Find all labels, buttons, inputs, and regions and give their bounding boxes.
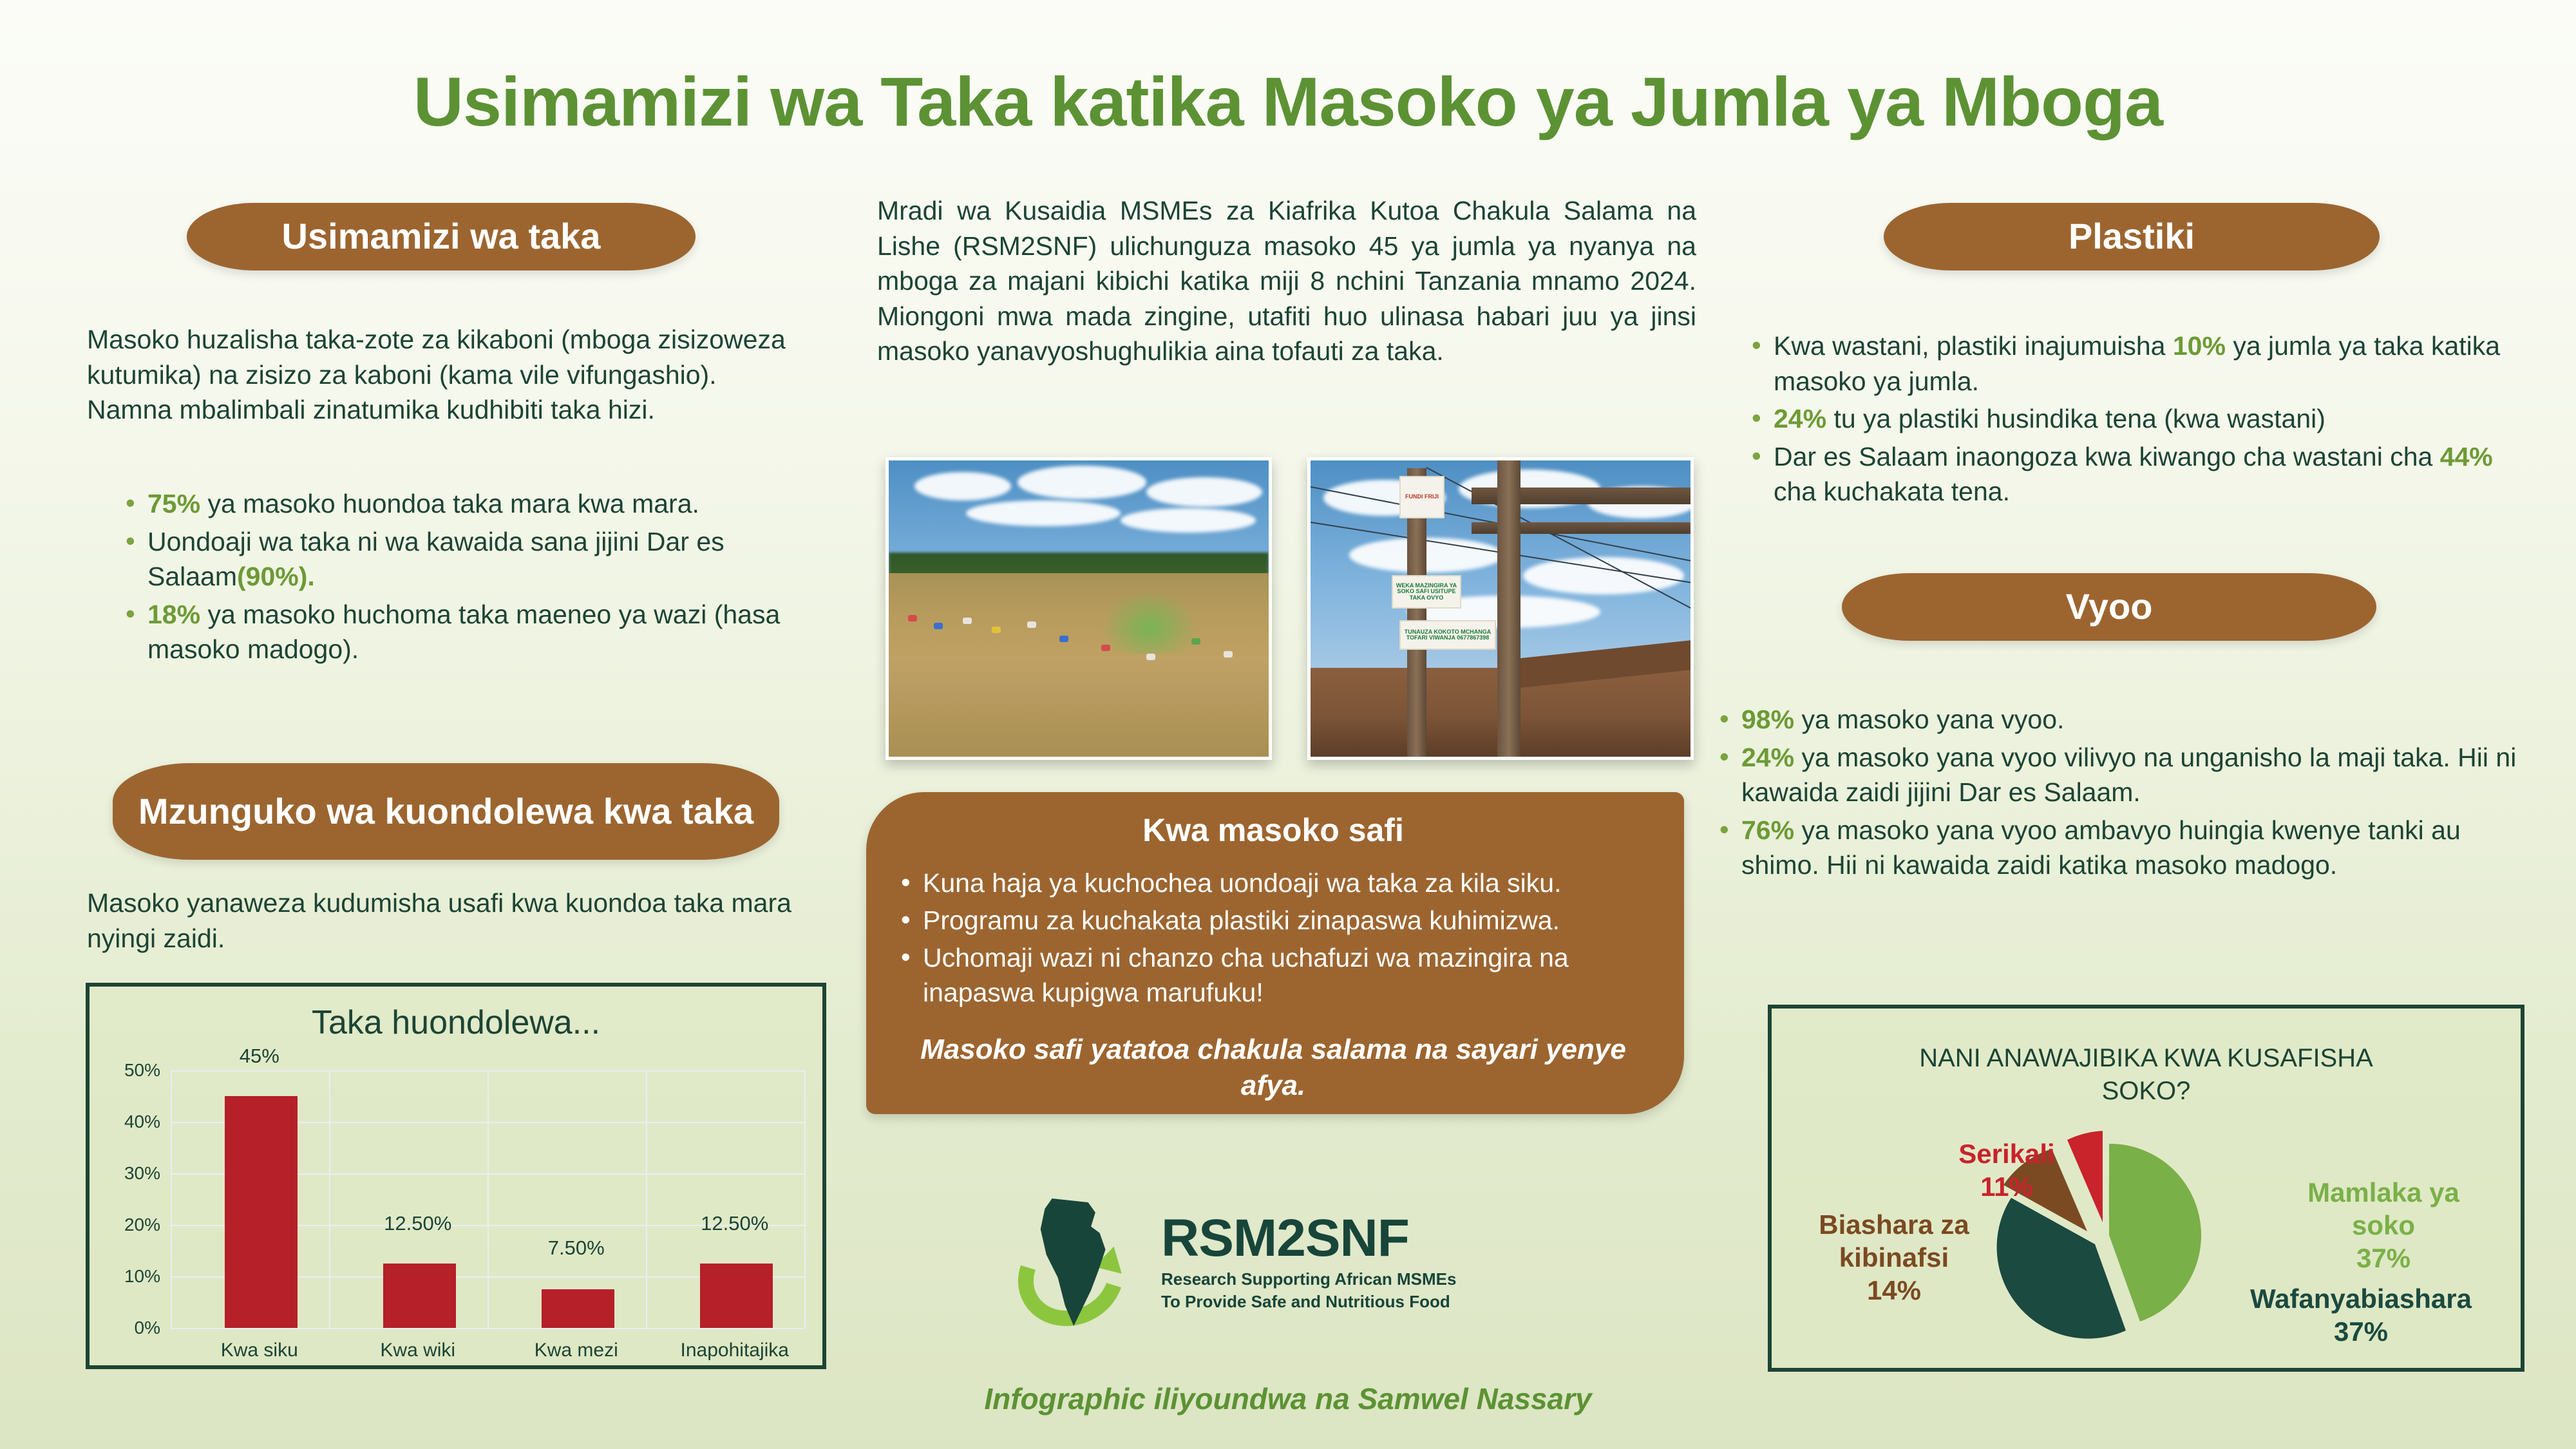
stat-18: 18% xyxy=(147,600,200,629)
pie-label-text: Biashara za kibinafsi xyxy=(1801,1208,1987,1274)
y-tick-label: 20% xyxy=(124,1215,160,1235)
market-signpost-photo: FUNDI FRIJI WEKA MAZINGIRA YA SOKO SAFI … xyxy=(1307,457,1694,760)
stat-44: 44% xyxy=(2440,442,2493,471)
bar-chart-box: Taka huondolewa... 50% 40% 30% 20% 10% 0… xyxy=(86,983,826,1369)
bar-category-label: Kwa wiki xyxy=(380,1340,455,1361)
rsm2snf-logo: RSM2SNF Research Supporting African MSME… xyxy=(1014,1195,1456,1330)
pie-label-serikali: Serikali 11% xyxy=(1933,1137,2081,1203)
pie-slice-mamlaka xyxy=(2109,1144,2201,1321)
pie-chart-title: NANI ANAWAJIBIKA KWA KUSAFISHA SOKO? xyxy=(1772,1042,2521,1108)
list-item: 24% tu ya plastiki husindika tena (kwa w… xyxy=(1745,401,2528,437)
pie-label-value: 37% xyxy=(2356,1243,2410,1273)
pie-label-text: Wafanyabiashara xyxy=(2250,1283,2472,1314)
recommendations-list: Kuna haja ya kuchochea uondoaji wa taka … xyxy=(893,866,1653,1010)
gridline xyxy=(329,1070,330,1328)
section-heading-label: Mzunguko wa kuondolewa kwa taka xyxy=(138,791,753,832)
sign-fundi-friji: FUNDI FRIJI xyxy=(1399,476,1444,518)
recommendations-heading: Kwa masoko safi xyxy=(893,811,1653,849)
pie-label-wafanyabiashara: Wafanyabiashara 37% xyxy=(2216,1282,2506,1348)
list-item: 76% ya masoko yana vyoo ambavyo huingia … xyxy=(1713,813,2531,883)
bar-category-label: Kwa mezi xyxy=(535,1340,618,1361)
waste-pile-foreground xyxy=(889,656,1269,757)
pie-label-value: 37% xyxy=(2334,1316,2388,1347)
credit-line: Infographic iliyoundwa na Samwel Nassary xyxy=(0,1381,2576,1416)
list-item-text: Uondoaji wa taka ni wa kawaida sana jiji… xyxy=(147,527,724,592)
left-intro-paragraph: Masoko huzalisha taka-zote za kikaboni (… xyxy=(87,322,789,428)
list-item-text: ya masoko huchoma taka maeneo ya wazi (h… xyxy=(147,600,780,665)
list-item-text: Dar es Salaam inaongoza kwa kiwango cha … xyxy=(1774,442,2440,471)
section-heading-vyoo: Vyoo xyxy=(1842,573,2376,641)
gridline xyxy=(171,1328,804,1329)
bar xyxy=(383,1264,456,1328)
list-item: 75% ya masoko huondoa taka mara kwa mara… xyxy=(119,486,789,522)
bar xyxy=(225,1096,298,1328)
list-item-text: ya masoko huondoa taka mara kwa mara. xyxy=(200,489,699,518)
page-title: Usimamizi wa Taka katika Masoko ya Jumla… xyxy=(0,61,2576,142)
sign-tunauza: TUNAUZA KOKOTO MCHANGA TOFARI VIWANJA 06… xyxy=(1399,620,1496,650)
y-tick-label: 30% xyxy=(124,1163,160,1184)
list-item: 98% ya masoko yana vyoo. xyxy=(1713,702,2531,737)
gridline xyxy=(804,1070,806,1328)
recommendations-tagline: Masoko safi yatatoa chakula salama na sa… xyxy=(893,1032,1653,1103)
stat-10: 10% xyxy=(2173,331,2226,361)
section-heading-plastiki: Plastiki xyxy=(1884,203,2380,270)
section-heading-label: Vyoo xyxy=(2066,587,2153,627)
section-heading-usimamizi-wa-taka: Usimamizi wa taka xyxy=(187,203,696,270)
litter-speck xyxy=(963,618,972,624)
stat-75: 75% xyxy=(147,489,200,518)
gridline xyxy=(488,1070,489,1328)
cloud-shape xyxy=(914,472,1011,500)
cloud-shape xyxy=(1349,538,1504,573)
section-heading-label: Usimamizi wa taka xyxy=(282,216,601,257)
y-tick-label: 50% xyxy=(124,1060,160,1081)
y-tick-label: 10% xyxy=(124,1266,160,1287)
stat-24-vyoo: 24% xyxy=(1741,743,1794,772)
list-item: 18% ya masoko huchoma taka maeneo ya waz… xyxy=(119,597,789,667)
litter-speck xyxy=(934,623,943,629)
list-item: Uondoaji wa taka ni wa kawaida sana jiji… xyxy=(119,524,789,594)
litter-speck xyxy=(1059,636,1068,642)
list-item: 24% ya masoko yana vyoo vilivyo na ungan… xyxy=(1713,740,2531,810)
vyoo-bullet-list: 98% ya masoko yana vyoo. 24% ya masoko y… xyxy=(1713,702,2531,885)
stat-76: 76% xyxy=(1741,815,1794,845)
bar-chart-title: Taka huondolewa... xyxy=(90,1003,822,1042)
infographic-poster: Usimamizi wa Taka katika Masoko ya Jumla… xyxy=(0,0,2576,1449)
pie-label-text: Mamlaka ya soko xyxy=(2297,1176,2470,1242)
stat-24: 24% xyxy=(1774,404,1826,433)
sign-weka-mazingira: WEKA MAZINGIRA YA SOKO SAFI USITUPE TAKA… xyxy=(1392,575,1461,609)
logo-wordmark: RSM2SNF Research Supporting African MSME… xyxy=(1161,1212,1456,1313)
section-heading-label: Plastiki xyxy=(2069,216,2195,257)
plastiki-bullet-list: Kwa wastani, plastiki inajumuisha 10% ya… xyxy=(1745,328,2528,512)
list-item-text: ya masoko yana vyoo vilivyo na unganisho… xyxy=(1741,743,2516,808)
list-item: Dar es Salaam inaongoza kwa kiwango cha … xyxy=(1745,439,2528,509)
left-paragraph-2: Masoko yanaweza kudumisha usafi kwa kuon… xyxy=(87,885,799,956)
pie-label-text: Serikali xyxy=(1958,1139,2054,1169)
litter-speck xyxy=(1027,621,1036,628)
list-item: Kuna haja ya kuchochea uondoaji wa taka … xyxy=(893,866,1653,900)
recommendations-box: Kwa masoko safi Kuna haja ya kuchochea u… xyxy=(866,792,1684,1114)
bar-chart-plot: 50% 40% 30% 20% 10% 0% xyxy=(109,1070,811,1328)
gridline xyxy=(171,1070,172,1328)
dump-site-photo xyxy=(885,457,1272,760)
list-item-text: tu ya plastiki husindika tena (kwa wasta… xyxy=(1826,404,2325,433)
logo-title: RSM2SNF xyxy=(1161,1212,1456,1265)
bar-category-label: Kwa siku xyxy=(221,1340,298,1361)
left-bullet-list: 75% ya masoko huondoa taka mara kwa mara… xyxy=(119,486,789,670)
bar-category-label: Inapohitajika xyxy=(681,1340,789,1361)
pie-label-mamlaka: Mamlaka ya soko 37% xyxy=(2287,1176,2480,1275)
bar-value-label: 12.50% xyxy=(384,1212,451,1235)
bar-value-label: 12.50% xyxy=(701,1212,768,1235)
litter-speck xyxy=(992,627,1001,633)
bar-value-label: 7.50% xyxy=(548,1236,605,1260)
pie-label-value: 14% xyxy=(1867,1275,1921,1305)
litter-speck xyxy=(1146,654,1155,660)
cloud-shape xyxy=(966,500,1121,526)
bar xyxy=(700,1264,773,1328)
cloud-shape xyxy=(1018,466,1146,499)
logo-tagline-2: To Provide Safe and Nutritious Food xyxy=(1161,1291,1456,1312)
list-item: Uchomaji wazi ni chanzo cha uchafuzi wa … xyxy=(893,940,1653,1010)
list-item: Programu za kuchakata plastiki zinapaswa… xyxy=(893,903,1653,938)
green-shrub xyxy=(1101,589,1198,654)
logo-tagline-1: Research Supporting African MSMEs xyxy=(1161,1269,1456,1290)
section-heading-mzunguko: Mzunguko wa kuondolewa kwa taka xyxy=(113,763,779,860)
utility-pole xyxy=(1497,460,1520,760)
y-tick-label: 0% xyxy=(135,1318,160,1338)
africa-swoosh-icon xyxy=(1014,1195,1150,1330)
gridline xyxy=(646,1070,647,1328)
bar-chart-plot-area: 45% 12.50% 7.50% 12.50% Kwa siku Kwa wik… xyxy=(171,1070,804,1328)
list-item-text: Kwa wastani, plastiki inajumuisha xyxy=(1774,331,2173,361)
bar-chart-y-axis: 50% 40% 30% 20% 10% 0% xyxy=(109,1070,164,1328)
list-item-text: cha kuchakata tena. xyxy=(1774,477,2010,506)
bar xyxy=(542,1289,614,1328)
list-item: Kwa wastani, plastiki inajumuisha 10% ya… xyxy=(1745,328,2528,399)
cloud-shape xyxy=(1146,477,1262,507)
pie-chart-box: NANI ANAWAJIBIKA KWA KUSAFISHA SOKO? Ser… xyxy=(1768,1005,2524,1372)
pie-label-value: 11% xyxy=(1980,1171,2033,1202)
pie-slice-wafanyabiashara xyxy=(1997,1198,2126,1339)
litter-speck xyxy=(1224,651,1233,658)
list-item-text: ya masoko yana vyoo. xyxy=(1794,705,2064,734)
center-intro-paragraph: Mradi wa Kusaidia MSMEs za Kiafrika Kuto… xyxy=(877,193,1696,369)
stat-98: 98% xyxy=(1741,705,1794,734)
y-tick-label: 40% xyxy=(124,1112,160,1132)
list-item-text: ya masoko yana vyoo ambavyo huingia kwen… xyxy=(1741,815,2461,880)
bar-value-label: 45% xyxy=(240,1045,279,1068)
pie-label-biashara: Biashara za kibinafsi 14% xyxy=(1791,1208,1997,1307)
cloud-shape xyxy=(1121,508,1256,533)
stat-90: (90%). xyxy=(237,562,315,591)
litter-speck xyxy=(908,615,917,621)
